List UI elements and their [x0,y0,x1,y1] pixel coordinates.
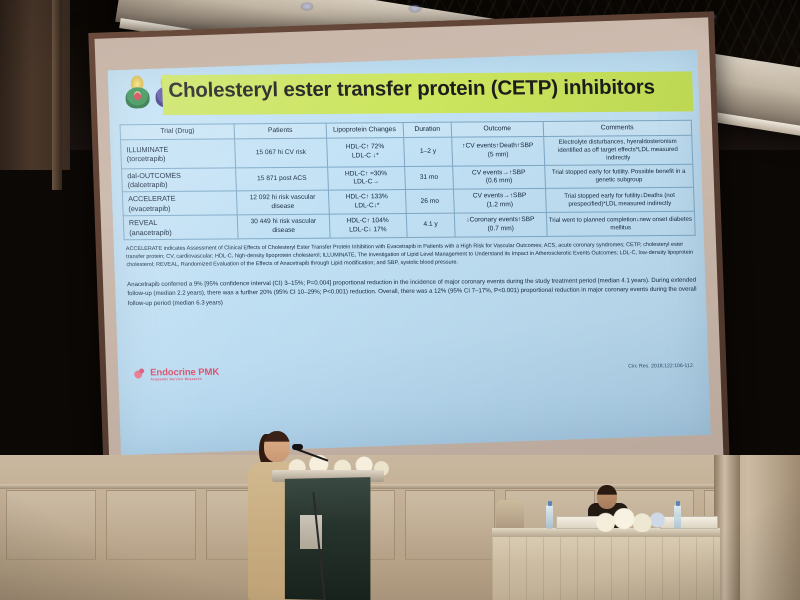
wall-chair-rail [0,484,800,489]
cell-patients: 30 449 hi risk vascular disease [237,214,329,238]
outcome-main: ↓Coronary events↑SBP [466,216,534,224]
table-row: ILLUMINATE (torcetrapib) 15 067 hi CV ri… [121,135,693,168]
trial-name: dal-OUTCOMES [127,171,181,180]
column-header-trial: Trial (Drug) [120,124,235,140]
head-table-flower-arrangement [592,508,668,532]
trial-name: ACCELERATE [128,194,176,203]
cell-comments: Electrolyte disturbances, hyeraldosteron… [543,135,693,165]
trial-drug: (torcetrapib) [127,154,166,163]
cell-trial: ACCELERATE (evacetrapib) [122,191,237,216]
lipo-ldl: LDL-C↓ 17% [349,226,387,233]
cell-outcome: CV events→↑SBP (0.6 mm) [453,165,545,189]
slide-summary-paragraph: Anacetrapib conferred a 9% [95% confiden… [127,276,700,309]
conference-room-photo: Cholesteryl ester transfer protein (CETP… [0,0,800,600]
table-row: REVEAL (anacetrapib) 30 449 hi risk vasc… [123,211,695,239]
column-header-outcome: Outcome [451,121,543,137]
thai-royal-emblem-green-icon [124,75,151,110]
outcome-detail: (0.6 mm) [486,177,513,184]
slide-abbreviation-footnote: ACCELERATE indicates Assessment of Clini… [126,242,699,270]
head-table-skirt-folds [492,537,720,600]
outcome-detail: (0.7 mm) [487,225,514,232]
outcome-main: ↑CV events↑Death↑SBP [462,142,533,150]
cell-outcome: CV events→↑SBP (1.2 mm) [454,189,546,213]
cell-duration: 4.1 y [406,213,455,237]
lipo-ldl: LDL-C ↓* [352,152,379,159]
cetp-trials-table: Trial (Drug) Patients Lipoprotein Change… [120,120,696,240]
water-bottle [546,505,553,529]
cell-lipoprotein: HDL-C↑ 133% LDL-C↓* [328,190,406,214]
outcome-main: CV events→↑SBP [473,192,527,199]
logo-tagline: Academic Service Research [150,377,219,381]
name-card [660,516,718,529]
cell-lipoprotein: HDL-C↑ ≈30% LDL-C→ [327,166,405,190]
slide-title: Cholesteryl ester transfer protein (CETP… [168,75,697,103]
ceiling-spotlight [300,2,314,11]
cell-patients: 15 067 hi CV risk [235,138,327,167]
outcome-detail: (5 mm) [488,151,509,158]
cell-outcome: ↑CV events↑Death↑SBP (5 mm) [452,136,544,165]
cell-patients: 12 092 hi risk vascular disease [237,191,329,215]
column-header-duration: Duration [403,122,452,137]
left-wall-trim [52,0,62,190]
lipo-hdl: HDL-C↑ 104% [346,217,388,224]
trial-name: ILLUMINATE [126,144,168,153]
column-header-patients: Patients [234,123,326,139]
cell-duration: 1–2 y [403,137,453,166]
wall-panel [405,490,495,560]
cell-duration: 26 mo [405,190,454,214]
cell-trial: REVEAL (anacetrapib) [123,215,238,240]
cell-comments: Trial went to planned completion↓new ons… [546,211,695,236]
wall-panel [106,490,196,560]
column-header-comments: Comments [543,120,692,136]
slide-citation: Circ Res. 2018;122:106-112. [628,363,694,370]
cell-lipoprotein: HDL-C↑ 72% LDL-C ↓* [326,138,404,167]
trial-drug: (evacetrapib) [128,204,170,213]
outcome-detail: (1.2 mm) [487,201,514,208]
presentation-slide: Cholesteryl ester transfer protein (CETP… [108,50,711,455]
trial-drug: (dalcetrapib) [127,180,167,189]
moderator-head [597,485,617,509]
microphone-icon [292,444,303,450]
cell-lipoprotein: HDL-C↑ 104% LDL-C↓ 17% [329,214,407,238]
trial-drug: (anacetrapib) [129,227,172,236]
heart-logo-icon [134,368,147,381]
podium [285,477,371,600]
lipo-hdl: HDL-C↑ 133% [346,193,388,200]
wall-panel [6,490,96,560]
cell-trial: ILLUMINATE (torcetrapib) [121,139,236,169]
cell-outcome: ↓Coronary events↑SBP (0.7 mm) [454,213,546,237]
column-header-lipoprotein-changes: Lipoprotein Changes [326,123,404,139]
lipo-hdl: HDL-C↑ ≈30% [345,170,387,177]
lipo-ldl: LDL-C→ [353,178,379,185]
water-bottle [674,505,681,529]
cell-comments: Trial stopped early for futility. Possib… [544,164,693,189]
endocrine-pmk-logo: Endocrine PMK Academic Service Research [134,368,219,382]
cell-trial: dal-OUTCOMES (dalcetrapib) [122,168,237,193]
cell-comments: Trial stopped early for futility↓Deaths … [545,188,694,213]
ceiling-spotlight [408,4,422,13]
outcome-main: CV events→↑SBP [472,169,526,176]
cell-duration: 31 mo [404,166,453,190]
cell-patients: 15 871 post ACS [236,167,328,191]
screen-surface: Cholesteryl ester transfer protein (CETP… [95,17,724,478]
lipo-hdl: HDL-C↑ 72% [346,144,385,151]
lipo-ldl: LDL-C↓* [354,202,379,209]
projection-screen: Cholesteryl ester transfer protein (CETP… [88,11,729,485]
trial-name: REVEAL [129,218,158,227]
cetp-table-wrapper: Trial (Drug) Patients Lipoprotein Change… [120,120,696,240]
